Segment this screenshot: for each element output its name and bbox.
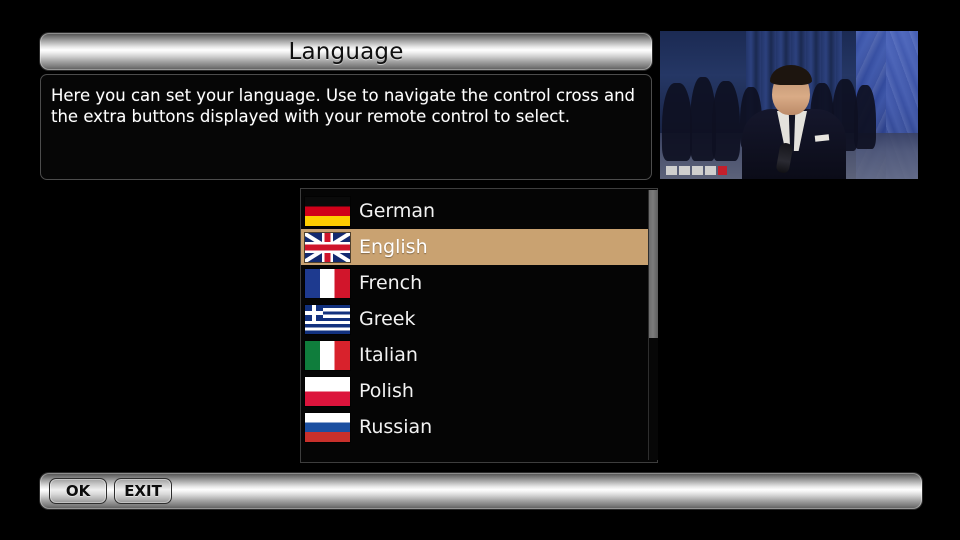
video-crowd-person [662,83,692,161]
language-list-item[interactable]: French [301,265,657,301]
help-text-panel: Here you can set your language. Use to n… [40,74,652,180]
french-flag-icon [305,269,350,298]
page-title: Language [288,39,403,65]
page-title-bar: Language [40,33,652,70]
live-video-preview[interactable] [660,31,918,179]
ok-button[interactable]: OK [49,478,107,504]
language-label: German [359,202,435,221]
logo-block [705,166,716,175]
russian-flag-icon [305,413,350,442]
language-label: English [359,238,428,257]
language-label: Italian [359,346,418,365]
logo-block [679,166,690,175]
list-scrollbar[interactable] [648,190,658,460]
language-label: Polish [359,382,414,401]
language-list-item[interactable]: Russian [301,409,657,445]
language-label: Greek [359,310,416,329]
logo-block [666,166,677,175]
help-text: Here you can set your language. Use to n… [51,85,639,127]
language-list-item[interactable]: German [301,193,657,229]
logo-block [692,166,703,175]
german-flag-icon [305,197,350,226]
language-list-item-selected[interactable]: English [301,229,657,265]
polish-flag-icon [305,377,350,406]
softkey-bar: OK EXIT [40,473,922,509]
language-list-item[interactable]: Greek [301,301,657,337]
tv-settings-screen: Language Here you can set your language.… [0,0,960,540]
video-crowd-person [712,81,740,161]
language-label: Russian [359,418,432,437]
logo-block-accent [718,166,727,175]
list-scrollbar-thumb[interactable] [649,190,658,338]
language-list-item[interactable]: Polish [301,373,657,409]
video-crowd-person [854,85,876,149]
channel-logo-icon [666,166,727,175]
italian-flag-icon [305,341,350,370]
english-flag-icon [305,233,350,262]
greek-flag-icon [305,305,350,334]
language-label: French [359,274,422,293]
language-list[interactable]: German English French Greek Italian Poli… [300,188,658,463]
language-list-item[interactable]: Italian [301,337,657,373]
flag-cross-horizontal [305,242,350,253]
exit-button[interactable]: EXIT [114,478,172,504]
